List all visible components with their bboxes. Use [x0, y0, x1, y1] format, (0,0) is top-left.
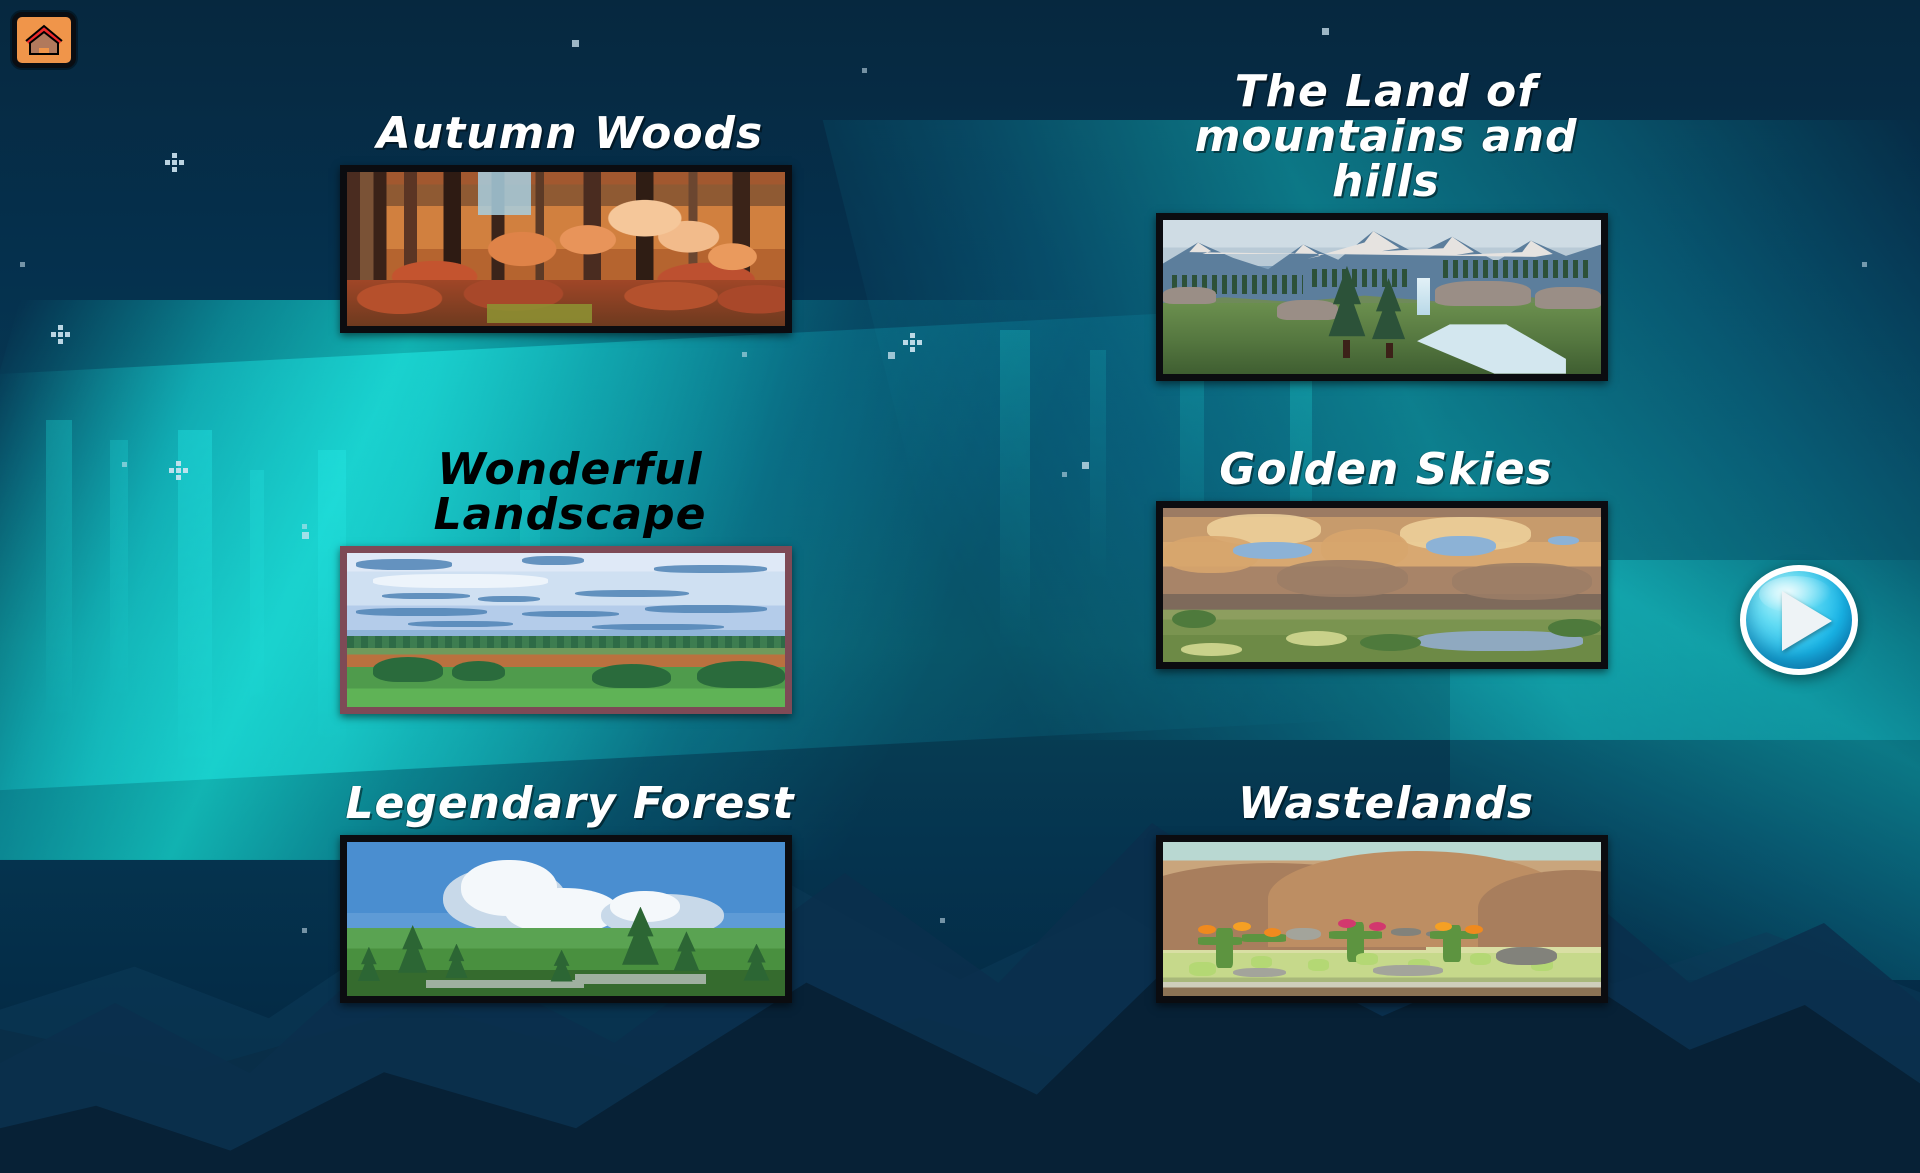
next-page-button[interactable] [1740, 565, 1858, 675]
level-thumbnail-golden-skies[interactable] [1156, 501, 1608, 669]
level-grid: Autumn Woods The Land of mountains and h… [0, 0, 1920, 1173]
level-thumbnail-wastelands[interactable] [1156, 835, 1608, 1003]
level-card-wonderful-landscape[interactable]: Wonderful Landscape [340, 448, 800, 714]
level-card-autumn-woods[interactable]: Autumn Woods [340, 112, 800, 333]
level-title: Legendary Forest [340, 782, 800, 827]
level-title: Wastelands [1156, 782, 1616, 827]
level-card-land-of-mountains-and-hills[interactable]: The Land of mountains and hills [1156, 70, 1616, 381]
level-card-legendary-forest[interactable]: Legendary Forest [340, 782, 800, 1003]
level-title: Autumn Woods [340, 112, 800, 157]
level-title: Wonderful Landscape [340, 448, 800, 538]
play-arrow-icon [1782, 591, 1832, 651]
level-card-wastelands[interactable]: Wastelands [1156, 782, 1616, 1003]
level-select-screen: Autumn Woods The Land of mountains and h… [0, 0, 1920, 1173]
level-card-golden-skies[interactable]: Golden Skies [1156, 448, 1616, 669]
level-title: Golden Skies [1156, 448, 1616, 493]
level-thumbnail-autumn-woods[interactable] [340, 165, 792, 333]
level-thumbnail-wonderful-landscape[interactable] [340, 546, 792, 714]
level-title: The Land of mountains and hills [1156, 70, 1616, 205]
level-thumbnail-mountains[interactable] [1156, 213, 1608, 381]
level-thumbnail-legendary-forest[interactable] [340, 835, 792, 1003]
